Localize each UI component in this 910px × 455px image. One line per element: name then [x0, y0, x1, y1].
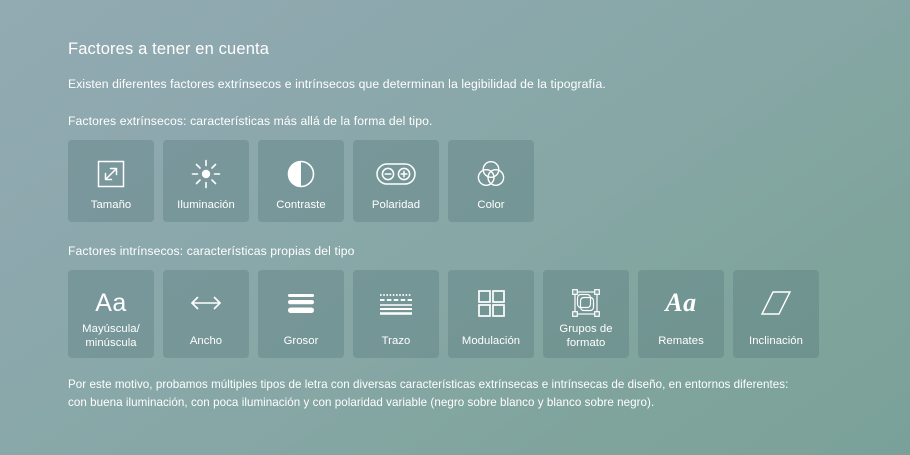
- sun-icon: [186, 153, 226, 195]
- card-label: Ancho: [190, 335, 222, 349]
- card-label: Mayúscula/ minúscula: [82, 323, 140, 351]
- card-label: Inclinación: [749, 335, 803, 349]
- intro-paragraph: Existen diferentes factores extrínsecos …: [68, 77, 878, 91]
- card-color[interactable]: Color: [448, 140, 534, 222]
- card-label: Tamaño: [91, 199, 132, 213]
- card-inclinacion[interactable]: Inclinación: [733, 270, 819, 358]
- extrinsic-section-label: Factores extrínsecos: características má…: [68, 114, 878, 128]
- card-mayuscula-minuscula[interactable]: Aa Mayúscula/ minúscula: [68, 270, 154, 358]
- outro-line-1: Por este motivo, probamos múltiples tipo…: [68, 376, 878, 394]
- intrinsic-section-label: Factores intrínsecos: características pr…: [68, 244, 878, 258]
- parallelogram-icon: [756, 283, 796, 323]
- three-overlapping-circles-icon: [471, 153, 511, 195]
- selection-handles-icon: [566, 283, 606, 323]
- row-spacer: [68, 222, 878, 244]
- serif-aa-icon: Aa: [665, 283, 696, 323]
- card-label: Grupos de formato: [559, 323, 612, 351]
- card-iluminacion[interactable]: Iluminación: [163, 140, 249, 222]
- outro-paragraph: Por este motivo, probamos múltiples tipo…: [68, 376, 878, 411]
- extrinsic-card-row: Tamaño Iluminación: [68, 140, 878, 222]
- card-label: Polaridad: [372, 199, 420, 213]
- card-label: Modulación: [462, 335, 520, 349]
- card-label: Iluminación: [177, 199, 235, 213]
- card-grosor[interactable]: Grosor: [258, 270, 344, 358]
- page-title: Factores a tener en cuenta: [68, 40, 878, 59]
- double-arrow-horizontal-icon: [184, 283, 228, 323]
- half-filled-circle-icon: [281, 153, 321, 195]
- card-label: Color: [477, 199, 504, 213]
- card-grupos-de-formato[interactable]: Grupos de formato: [543, 270, 629, 358]
- card-remates[interactable]: Aa Remates: [638, 270, 724, 358]
- four-squares-grid-icon: [471, 283, 511, 323]
- card-ancho[interactable]: Ancho: [163, 270, 249, 358]
- card-contraste[interactable]: Contraste: [258, 140, 344, 222]
- stroke-lines-icon: [374, 283, 418, 323]
- outro-line-2: con buena iluminación, con poca iluminac…: [68, 394, 878, 412]
- card-polaridad[interactable]: Polaridad: [353, 140, 439, 222]
- card-tamano[interactable]: Tamaño: [68, 140, 154, 222]
- content-panel: Factores a tener en cuenta Existen difer…: [68, 40, 878, 411]
- minus-plus-pill-icon: [373, 153, 419, 195]
- card-label: Grosor: [284, 335, 319, 349]
- sans-aa-icon: Aa: [95, 283, 127, 323]
- intrinsic-card-row: Aa Mayúscula/ minúscula Ancho: [68, 270, 878, 358]
- card-label: Contraste: [276, 199, 325, 213]
- card-label: Remates: [658, 335, 704, 349]
- resize-arrows-square-icon: [91, 153, 131, 195]
- card-modulacion[interactable]: Modulación: [448, 270, 534, 358]
- card-label: Trazo: [382, 335, 411, 349]
- weight-bars-icon: [281, 283, 321, 323]
- card-trazo[interactable]: Trazo: [353, 270, 439, 358]
